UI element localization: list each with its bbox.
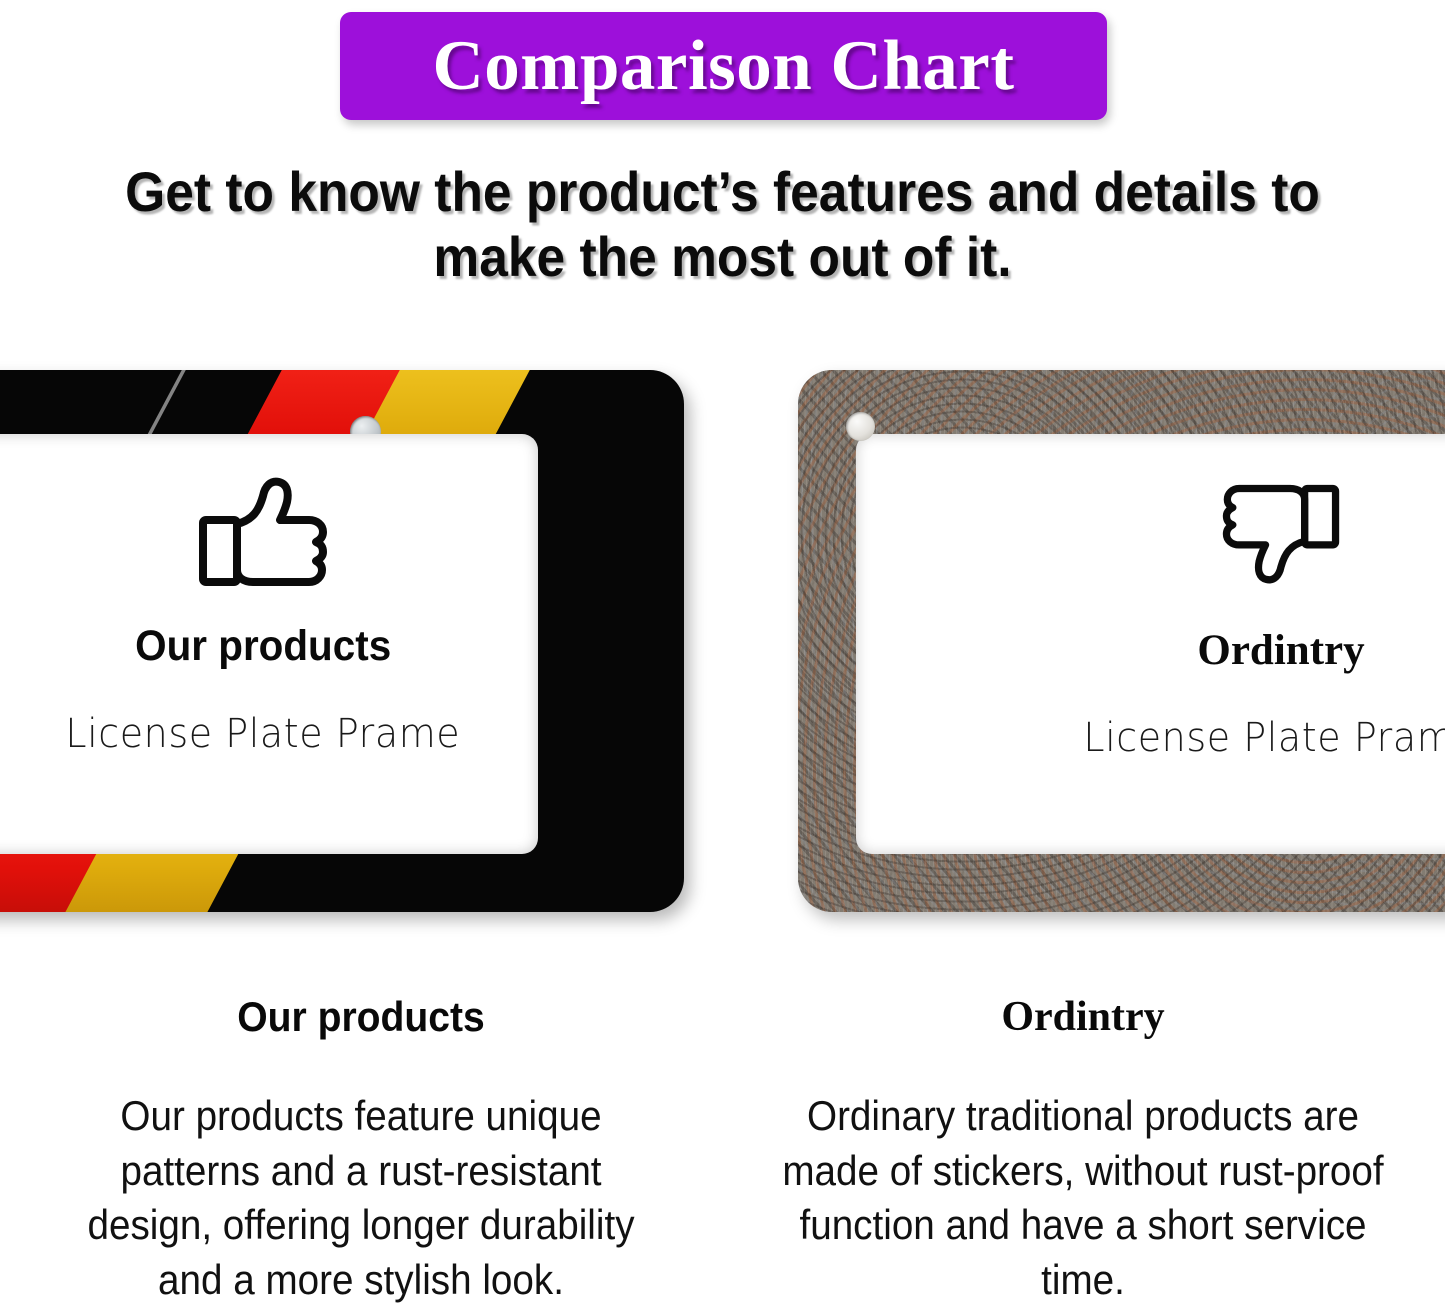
ordinary-product-plate-title: Ordintry	[1197, 626, 1364, 675]
ordinary-product-description: Ordinary traditional products are made o…	[751, 1089, 1415, 1307]
license-plate-window-right: Ordintry License Plate Prame	[856, 434, 1445, 854]
comparison-chart-banner: Comparison Chart	[340, 12, 1107, 120]
mounting-hole	[846, 412, 875, 441]
descriptions-row: Our products Our products feature unique…	[0, 985, 1445, 1314]
our-product-description: Our products feature unique patterns and…	[29, 1089, 693, 1307]
our-product-plate-content: Our products License Plate Prame	[0, 434, 538, 854]
ordinary-product-heading: Ordintry	[722, 993, 1444, 1041]
our-product-description-column: Our products Our products feature unique…	[0, 985, 722, 1314]
our-product-plate-title: Our products	[135, 622, 391, 671]
ordinary-product-plate-frame: Ordintry License Plate Prame	[798, 370, 1445, 912]
page-subtitle: Get to know the product’s features and d…	[58, 160, 1387, 290]
thumbs-down-icon	[1221, 476, 1341, 592]
ordinary-product-description-column: Ordintry Ordinary traditional products a…	[722, 985, 1444, 1314]
product-frames-row: Our products License Plate Prame Ordintr…	[0, 366, 1445, 916]
thumbs-up-icon	[197, 476, 329, 588]
ordinary-product-plate-content: Ordintry License Plate Prame	[856, 434, 1445, 854]
our-product-plate-frame: Our products License Plate Prame	[0, 370, 684, 912]
ordinary-product-plate-subtitle: License Plate Prame	[1084, 715, 1445, 761]
page-title: Comparison Chart	[433, 31, 1015, 102]
comparison-chart-page: Comparison Chart Get to know the product…	[0, 0, 1445, 1314]
our-product-heading: Our products	[25, 993, 696, 1041]
our-product-plate-subtitle: License Plate Prame	[66, 711, 461, 757]
license-plate-window-left: Our products License Plate Prame	[0, 434, 538, 854]
